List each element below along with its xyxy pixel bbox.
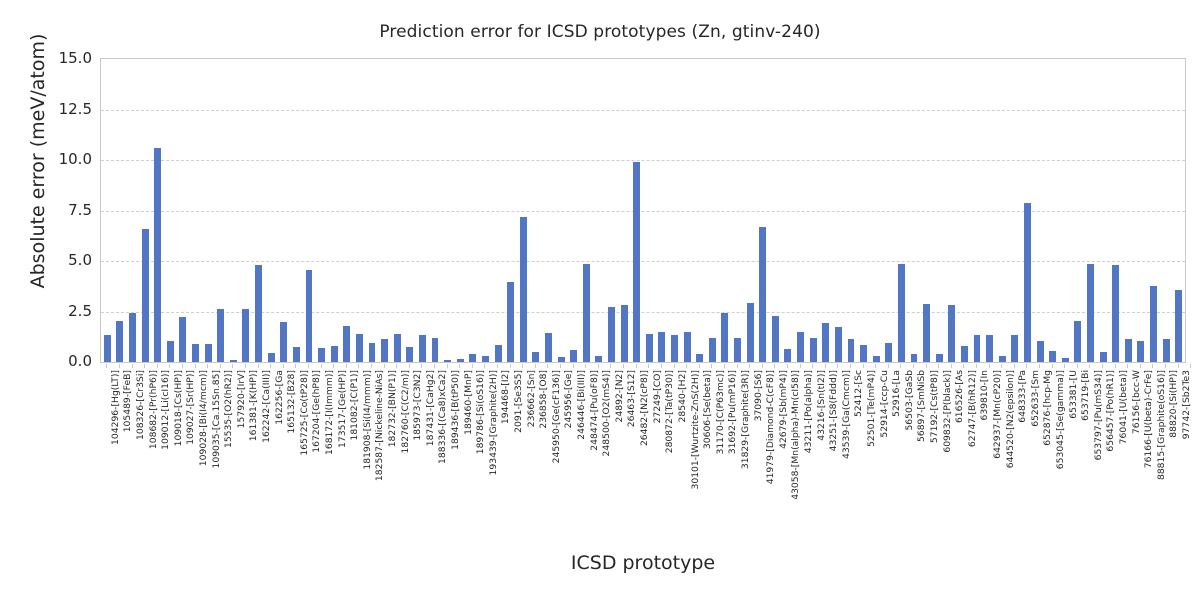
bar[interactable] (532, 352, 539, 363)
bar[interactable] (784, 349, 791, 362)
bar[interactable] (242, 309, 249, 362)
x-tick-label: 108682-[Pr(hP6)] (148, 370, 159, 449)
gridline (101, 211, 1185, 212)
x-tick-label: 2091-[Se3S5] (513, 370, 524, 433)
bar[interactable] (469, 354, 476, 362)
x-tick-mark (686, 364, 687, 368)
bar[interactable] (1150, 286, 1157, 362)
x-tick-label: 52501-[Te(mP4)] (866, 370, 877, 447)
y-tick-label: 5.0 (36, 251, 92, 269)
x-tick-label: 30606-[Se(beta)] (702, 370, 713, 449)
x-tick-mark (384, 364, 385, 368)
x-tick-label: 76156-[bcc-W (1131, 370, 1142, 434)
bar[interactable] (356, 334, 363, 362)
x-tick-mark (220, 364, 221, 368)
x-tick-label: 161381-[K(HP)] (248, 370, 259, 441)
x-tick-mark (623, 364, 624, 368)
bar[interactable] (848, 339, 855, 362)
x-tick-label: 653719-[Bi (1080, 370, 1091, 421)
bar[interactable] (583, 264, 590, 362)
bar[interactable] (520, 217, 527, 362)
x-tick-mark (195, 364, 196, 368)
x-tick-label: 109018-[Cs(HP)] (173, 370, 184, 446)
x-tick-label: 181082-[C(P1)] (349, 370, 360, 441)
x-tick-mark (976, 364, 977, 368)
x-tick-mark (207, 364, 208, 368)
gridline (101, 110, 1185, 111)
y-tick-label: 7.5 (36, 201, 92, 219)
x-tick-label: 26482-[N2(cP8)] (639, 370, 650, 446)
x-tick-label: 162242-[Ca(III)] (261, 370, 272, 443)
bar[interactable] (217, 309, 224, 362)
x-tick-label: 165132-[B28] (286, 370, 297, 434)
x-tick-mark (711, 364, 712, 368)
x-tick-mark (484, 364, 485, 368)
chart-figure: Prediction error for ICSD prototypes (Zn… (0, 0, 1200, 600)
gridline (101, 261, 1185, 262)
x-tick-label: 104296-[Hg(LT)] (110, 370, 121, 445)
x-tick-mark (762, 364, 763, 368)
x-tick-mark (1127, 364, 1128, 368)
bar[interactable] (1074, 321, 1081, 362)
gridline (101, 160, 1185, 161)
bar[interactable] (167, 341, 174, 362)
bar[interactable] (822, 323, 829, 362)
x-tick-label: 43058-[Mn(alpha)-Mn(cI58)] (790, 370, 801, 500)
x-tick-label: 182732-[BN(P1)] (387, 370, 398, 447)
bar[interactable] (154, 148, 161, 362)
x-tick-label: 43251-[S8(Fddd)] (828, 370, 839, 451)
bar[interactable] (255, 265, 262, 362)
bar[interactable] (318, 348, 325, 362)
x-tick-label: 37090-[S6] (753, 370, 764, 421)
x-tick-mark (724, 364, 725, 368)
x-tick-label: 248500-[O2(mS4)] (601, 370, 612, 456)
x-tick-mark (636, 364, 637, 368)
x-tick-label: 31692-[Pu(mP16)] (727, 370, 738, 454)
x-tick-label: 157920-[IrV] (236, 370, 247, 428)
bar[interactable] (810, 338, 817, 362)
x-tick-label: 52412-[Sc (853, 370, 864, 417)
bar[interactable] (860, 345, 867, 362)
x-tick-label: 193439-[Graphite(2H)] (488, 370, 499, 475)
bar[interactable] (709, 338, 716, 362)
x-tick-mark (308, 364, 309, 368)
bar[interactable] (974, 335, 981, 362)
x-tick-mark (1178, 364, 1179, 368)
x-tick-mark (371, 364, 372, 368)
bar[interactable] (936, 354, 943, 362)
x-tick-label: 109012-[Li(cI16)] (160, 370, 171, 450)
x-tick-mark (1039, 364, 1040, 368)
x-tick-mark (132, 364, 133, 368)
bar[interactable] (1062, 358, 1069, 362)
bar[interactable] (142, 229, 149, 362)
bar[interactable] (129, 313, 136, 362)
bar[interactable] (1175, 290, 1182, 362)
bar[interactable] (658, 332, 665, 362)
bar[interactable] (898, 264, 905, 362)
x-tick-mark (749, 364, 750, 368)
bar[interactable] (1163, 339, 1170, 362)
x-tick-mark (169, 364, 170, 368)
x-tick-label: 24892-[N2] (614, 370, 625, 422)
bar[interactable] (1137, 341, 1144, 362)
bar[interactable] (999, 356, 1006, 362)
x-tick-label: 88815-[Graphite(oS16)] (1156, 370, 1167, 480)
x-tick-label: 653797-[Pu(mS34)] (1093, 370, 1104, 460)
x-tick-mark (774, 364, 775, 368)
bar[interactable] (1049, 351, 1056, 362)
bar[interactable] (948, 305, 955, 362)
x-tick-mark (812, 364, 813, 368)
bar[interactable] (444, 360, 451, 362)
bar[interactable] (671, 335, 678, 362)
bar[interactable] (343, 326, 350, 362)
x-tick-mark (661, 364, 662, 368)
bar[interactable] (381, 339, 388, 362)
y-tick-label: 12.5 (36, 100, 92, 118)
x-axis-label: ICSD prototype (100, 552, 1186, 574)
y-tick-label: 2.5 (36, 302, 92, 320)
x-tick-label: 236858-[O8] (538, 370, 549, 429)
x-tick-mark (447, 364, 448, 368)
x-tick-label: 43211-[Po(alpha)] (803, 370, 814, 453)
x-tick-label: 56503-[GaSb (904, 370, 915, 431)
x-tick-label: 43539-[Ga(Cmcm)] (841, 370, 852, 459)
x-tick-mark (938, 364, 939, 368)
bar[interactable] (1087, 264, 1094, 362)
x-tick-mark (535, 364, 536, 368)
x-tick-label: 26463-[S12] (626, 370, 637, 427)
x-tick-label: 181908-[Si(I4/mmm)] (362, 370, 373, 470)
y-tick-label: 15.0 (36, 49, 92, 67)
bar[interactable] (558, 357, 565, 362)
x-tick-mark (1152, 364, 1153, 368)
x-tick-label: 248474-[Pu(oF8)] (589, 370, 600, 451)
bar[interactable] (986, 335, 993, 362)
bar[interactable] (179, 317, 186, 362)
x-tick-mark (850, 364, 851, 368)
bar[interactable] (432, 338, 439, 362)
plot-area (100, 58, 1186, 363)
x-tick-mark (396, 364, 397, 368)
x-tick-label: 188336-[(Ca8)xCa2] (437, 370, 448, 464)
bar[interactable] (911, 354, 918, 362)
x-tick-label: 189436-[B(tP50)] (450, 370, 461, 450)
x-tick-label: 639810-[In (979, 370, 990, 421)
x-tick-mark (409, 364, 410, 368)
x-tick-mark (522, 364, 523, 368)
x-tick-mark (1001, 364, 1002, 368)
x-tick-mark (573, 364, 574, 368)
x-tick-label: 109028-[Bi(I4/mcm)] (198, 370, 209, 466)
x-tick-label: 648333-[Pa (1017, 370, 1028, 423)
x-tick-mark (434, 364, 435, 368)
bar[interactable] (1024, 203, 1031, 362)
bar[interactable] (116, 321, 123, 362)
bar[interactable] (696, 354, 703, 362)
x-tick-label: 41979-[Diamond-C(cF8)] (765, 370, 776, 484)
bar[interactable] (961, 346, 968, 362)
x-tick-label: 187431-[CaHg2] (425, 370, 436, 446)
x-tick-mark (119, 364, 120, 368)
x-tick-label: 15535-[O2(hR2)] (223, 370, 234, 448)
x-tick-mark (648, 364, 649, 368)
x-tick-mark (283, 364, 284, 368)
bar[interactable] (495, 345, 502, 362)
x-tick-mark (875, 364, 876, 368)
x-tick-mark (837, 364, 838, 368)
x-tick-mark (182, 364, 183, 368)
x-tick-mark (699, 364, 700, 368)
bar[interactable] (923, 304, 930, 362)
x-tick-label: 52914-[ccp-Cu (879, 370, 890, 438)
x-tick-mark (610, 364, 611, 368)
x-tick-mark (144, 364, 145, 368)
bar[interactable] (873, 356, 880, 362)
x-tick-mark (787, 364, 788, 368)
bar[interactable] (1125, 339, 1132, 362)
y-tick-label: 10.0 (36, 150, 92, 168)
bar[interactable] (457, 359, 464, 362)
x-tick-label: 280872-[Ta(tP30)] (664, 370, 675, 453)
x-tick-label: 173517-[Ge(HP)] (337, 370, 348, 448)
x-tick-label: 189460-[MnP] (463, 370, 474, 435)
bar[interactable] (1100, 352, 1107, 363)
bar[interactable] (1011, 335, 1018, 362)
x-tick-label: 30101-[Wurtzite-ZnS(2H)] (690, 370, 701, 490)
x-tick-label: 189786-[Si(oS16)] (475, 370, 486, 454)
bar[interactable] (646, 334, 653, 362)
x-tick-label: 105489-[FeB] (122, 370, 133, 432)
x-tick-mark (421, 364, 422, 368)
bar[interactable] (205, 344, 212, 362)
x-tick-mark (295, 364, 296, 368)
x-tick-mark (1064, 364, 1065, 368)
bar[interactable] (797, 332, 804, 362)
x-tick-mark (157, 364, 158, 368)
x-tick-mark (106, 364, 107, 368)
x-tick-label: 652633-[Sm (1030, 370, 1041, 427)
x-tick-mark (951, 364, 952, 368)
bar[interactable] (419, 335, 426, 362)
bar[interactable] (406, 347, 413, 362)
x-tick-label: 162256-[Ga (274, 370, 285, 425)
x-tick-label: 246446-[Bi(III)] (576, 370, 587, 440)
bar[interactable] (507, 282, 514, 362)
x-tick-label: 644520-[N2(epsilon)] (1005, 370, 1016, 468)
x-tick-mark (1089, 364, 1090, 368)
x-tick-mark (674, 364, 675, 368)
x-tick-label: 27249-[CO] (652, 370, 663, 423)
x-tick-mark (459, 364, 460, 368)
x-tick-label: 88820-[Si(HP)] (1168, 370, 1179, 438)
x-tick-mark (547, 364, 548, 368)
x-tick-label: 109035-[Ca.15Sn.85] (211, 370, 222, 468)
x-tick-mark (737, 364, 738, 368)
bar[interactable] (885, 343, 892, 362)
x-tick-mark (1115, 364, 1116, 368)
x-tick-label: 168172-[I(Immm)] (324, 370, 335, 455)
x-tick-mark (800, 364, 801, 368)
x-tick-mark (333, 364, 334, 368)
bar[interactable] (721, 313, 728, 362)
x-tick-label: 57192-[Cs(tP8)] (929, 370, 940, 443)
y-axis-ticks: 0.02.55.07.510.012.515.0 (34, 58, 92, 363)
x-tick-label: 167204-[Ge(hP8)] (311, 370, 322, 453)
bar[interactable] (192, 344, 199, 362)
bar[interactable] (1112, 265, 1119, 362)
x-tick-mark (232, 364, 233, 368)
gridline (101, 312, 1185, 313)
x-tick-label: 609832-[P(black)] (942, 370, 953, 453)
x-tick-label: 28540-[H2] (677, 370, 688, 422)
bar[interactable] (595, 356, 602, 362)
x-tick-mark (863, 364, 864, 368)
bar[interactable] (306, 270, 313, 362)
x-tick-label: 642937-[Mn(cP20)] (992, 370, 1003, 459)
x-tick-mark (888, 364, 889, 368)
x-tick-label: 245956-[Ge] (563, 370, 574, 428)
x-tick-mark (472, 364, 473, 368)
bar[interactable] (608, 307, 615, 362)
x-tick-label: 194468-[I2] (500, 370, 511, 424)
x-tick-label: 42679-[Sb(mP4)] (778, 370, 789, 449)
bar[interactable] (772, 316, 779, 362)
x-tick-mark (963, 364, 964, 368)
x-tick-label: 182760-[C(C2/m)] (400, 370, 411, 453)
x-tick-label: 185973-[C3N2] (412, 370, 423, 441)
y-tick-label: 0.0 (36, 352, 92, 370)
x-tick-mark (245, 364, 246, 368)
x-tick-label: 652876-[hcp-Mg (1042, 370, 1053, 446)
x-tick-label: 109027-[Sr(HP)] (185, 370, 196, 445)
x-tick-label: 236662-[Sn] (526, 370, 537, 427)
x-tick-mark (1102, 364, 1103, 368)
x-tick-label: 108326-[Cr3Si] (135, 370, 146, 440)
x-axis-ticks: 104296-[Hg(LT)]105489-[FeB]108326-[Cr3Si… (100, 364, 1186, 550)
bar[interactable] (684, 332, 691, 362)
x-tick-mark (1190, 364, 1191, 368)
bar[interactable] (482, 356, 489, 362)
x-tick-label: 165725-[Co(tP28)] (299, 370, 310, 456)
x-tick-mark (346, 364, 347, 368)
bar[interactable] (759, 227, 766, 362)
x-tick-mark (258, 364, 259, 368)
bar[interactable] (293, 347, 300, 362)
bar[interactable] (1037, 341, 1044, 362)
chart-title: Prediction error for ICSD prototypes (Zn… (0, 22, 1200, 42)
x-tick-label: 76166-[U(beta)-CrFe] (1143, 370, 1154, 468)
x-tick-mark (321, 364, 322, 368)
x-tick-mark (1140, 364, 1141, 368)
bar[interactable] (633, 162, 640, 362)
x-tick-label: 653381-[U (1068, 370, 1079, 419)
x-tick-mark (900, 364, 901, 368)
x-tick-mark (598, 364, 599, 368)
bar[interactable] (570, 350, 577, 362)
bar[interactable] (835, 327, 842, 362)
x-tick-mark (825, 364, 826, 368)
x-tick-label: 31170-[C(P63mc)] (715, 370, 726, 455)
x-tick-label: 616526-[As (954, 370, 965, 423)
x-tick-label: 182587-[Nickeline-NiAs] (374, 370, 385, 481)
bar[interactable] (545, 333, 552, 362)
bar[interactable] (104, 335, 111, 362)
x-tick-mark (1077, 364, 1078, 368)
x-tick-mark (358, 364, 359, 368)
x-tick-mark (1165, 364, 1166, 368)
x-tick-label: 62747-[B(hR12)] (967, 370, 978, 447)
x-tick-label: 52916-[La (891, 370, 902, 417)
bar[interactable] (331, 346, 338, 362)
x-tick-label: 97742-[Sb2Te3 (1181, 370, 1192, 439)
x-tick-mark (926, 364, 927, 368)
x-tick-label: 31829-[Graphite(3R)] (740, 370, 751, 469)
bar[interactable] (268, 353, 275, 362)
x-tick-mark (913, 364, 914, 368)
x-tick-mark (497, 364, 498, 368)
x-tick-mark (585, 364, 586, 368)
x-tick-mark (1052, 364, 1053, 368)
x-tick-label: 656457-[Po(hR1)] (1105, 370, 1116, 452)
x-tick-mark (989, 364, 990, 368)
bar[interactable] (280, 322, 287, 362)
bar[interactable] (734, 338, 741, 362)
x-tick-label: 43216-[Sn(tI2)] (816, 370, 827, 441)
bar[interactable] (747, 303, 754, 362)
x-tick-mark (270, 364, 271, 368)
bar[interactable] (230, 360, 237, 362)
x-tick-mark (510, 364, 511, 368)
bar[interactable] (369, 343, 376, 362)
x-tick-mark (560, 364, 561, 368)
x-tick-mark (1014, 364, 1015, 368)
bar[interactable] (621, 305, 628, 362)
x-tick-label: 653045-[Se(gamma)] (1055, 370, 1066, 469)
bar[interactable] (394, 334, 401, 362)
x-tick-label: 76041-[U(beta)] (1118, 370, 1129, 444)
x-tick-mark (1026, 364, 1027, 368)
x-tick-label: 56897-[SmNiSb (916, 370, 927, 442)
x-tick-label: 245950-[Ge(cF136)] (551, 370, 562, 463)
